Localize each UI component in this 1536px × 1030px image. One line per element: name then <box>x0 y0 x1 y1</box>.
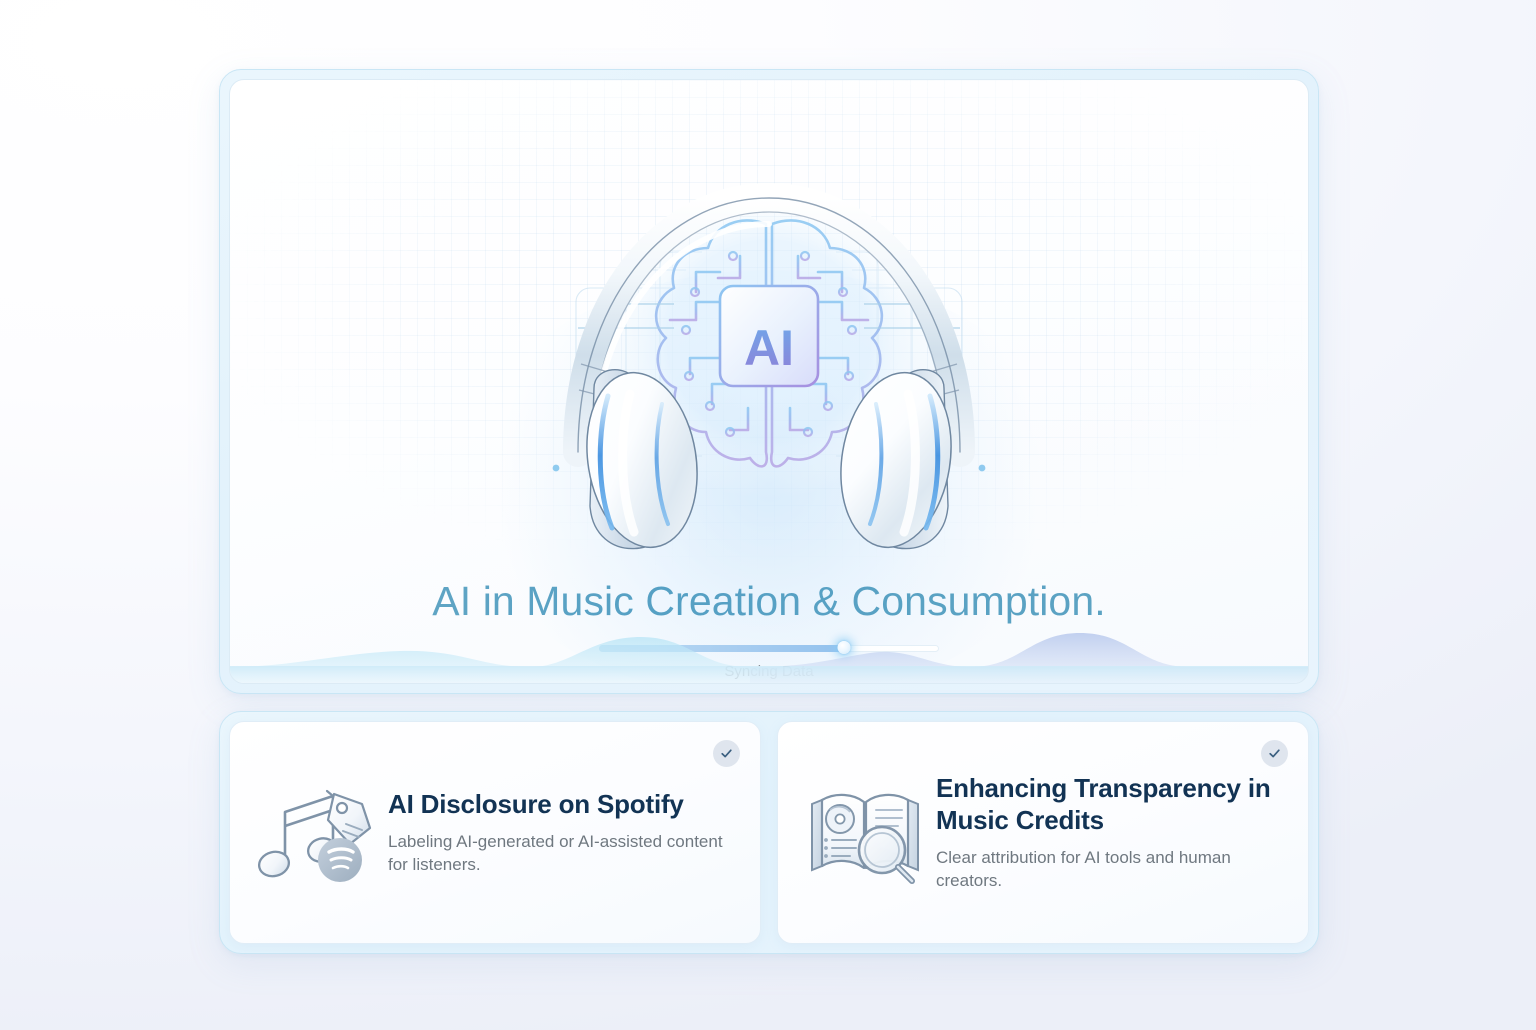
check-badge <box>713 740 740 767</box>
check-icon <box>719 746 734 761</box>
card-description: Labeling AI-generated or AI-assisted con… <box>388 831 734 877</box>
ai-brain-headphones-illustration: AI <box>534 152 1004 572</box>
hero-title: AI in Music Creation & Consumption. <box>230 578 1308 625</box>
hero-panel: AI <box>229 79 1309 684</box>
card-text-block: AI Disclosure on Spotify Labeling AI-gen… <box>382 788 734 877</box>
hero-frame: AI <box>219 69 1319 694</box>
card-music-credits[interactable]: Enhancing Transparency in Music Credits … <box>777 721 1309 944</box>
card-ai-disclosure[interactable]: AI Disclosure on Spotify Labeling AI-gen… <box>229 721 761 944</box>
progress-slider[interactable] <box>599 642 939 654</box>
chip-ai-label: AI <box>744 320 794 376</box>
slider-fill <box>599 645 844 652</box>
card-description: Clear attribution for AI tools and human… <box>936 847 1282 893</box>
card-text-block: Enhancing Transparency in Music Credits … <box>930 772 1282 893</box>
check-badge <box>1261 740 1288 767</box>
card-title: Enhancing Transparency in Music Credits <box>936 772 1282 836</box>
check-icon <box>1267 746 1282 761</box>
card-title: AI Disclosure on Spotify <box>388 788 734 820</box>
open-book-magnifier-icon <box>800 782 930 884</box>
cards-frame: AI Disclosure on Spotify Labeling AI-gen… <box>219 711 1319 954</box>
slider-thumb[interactable] <box>837 641 850 654</box>
music-note-tag-spotify-icon <box>252 782 382 884</box>
sync-status-label: Syncing Data <box>230 663 1308 680</box>
